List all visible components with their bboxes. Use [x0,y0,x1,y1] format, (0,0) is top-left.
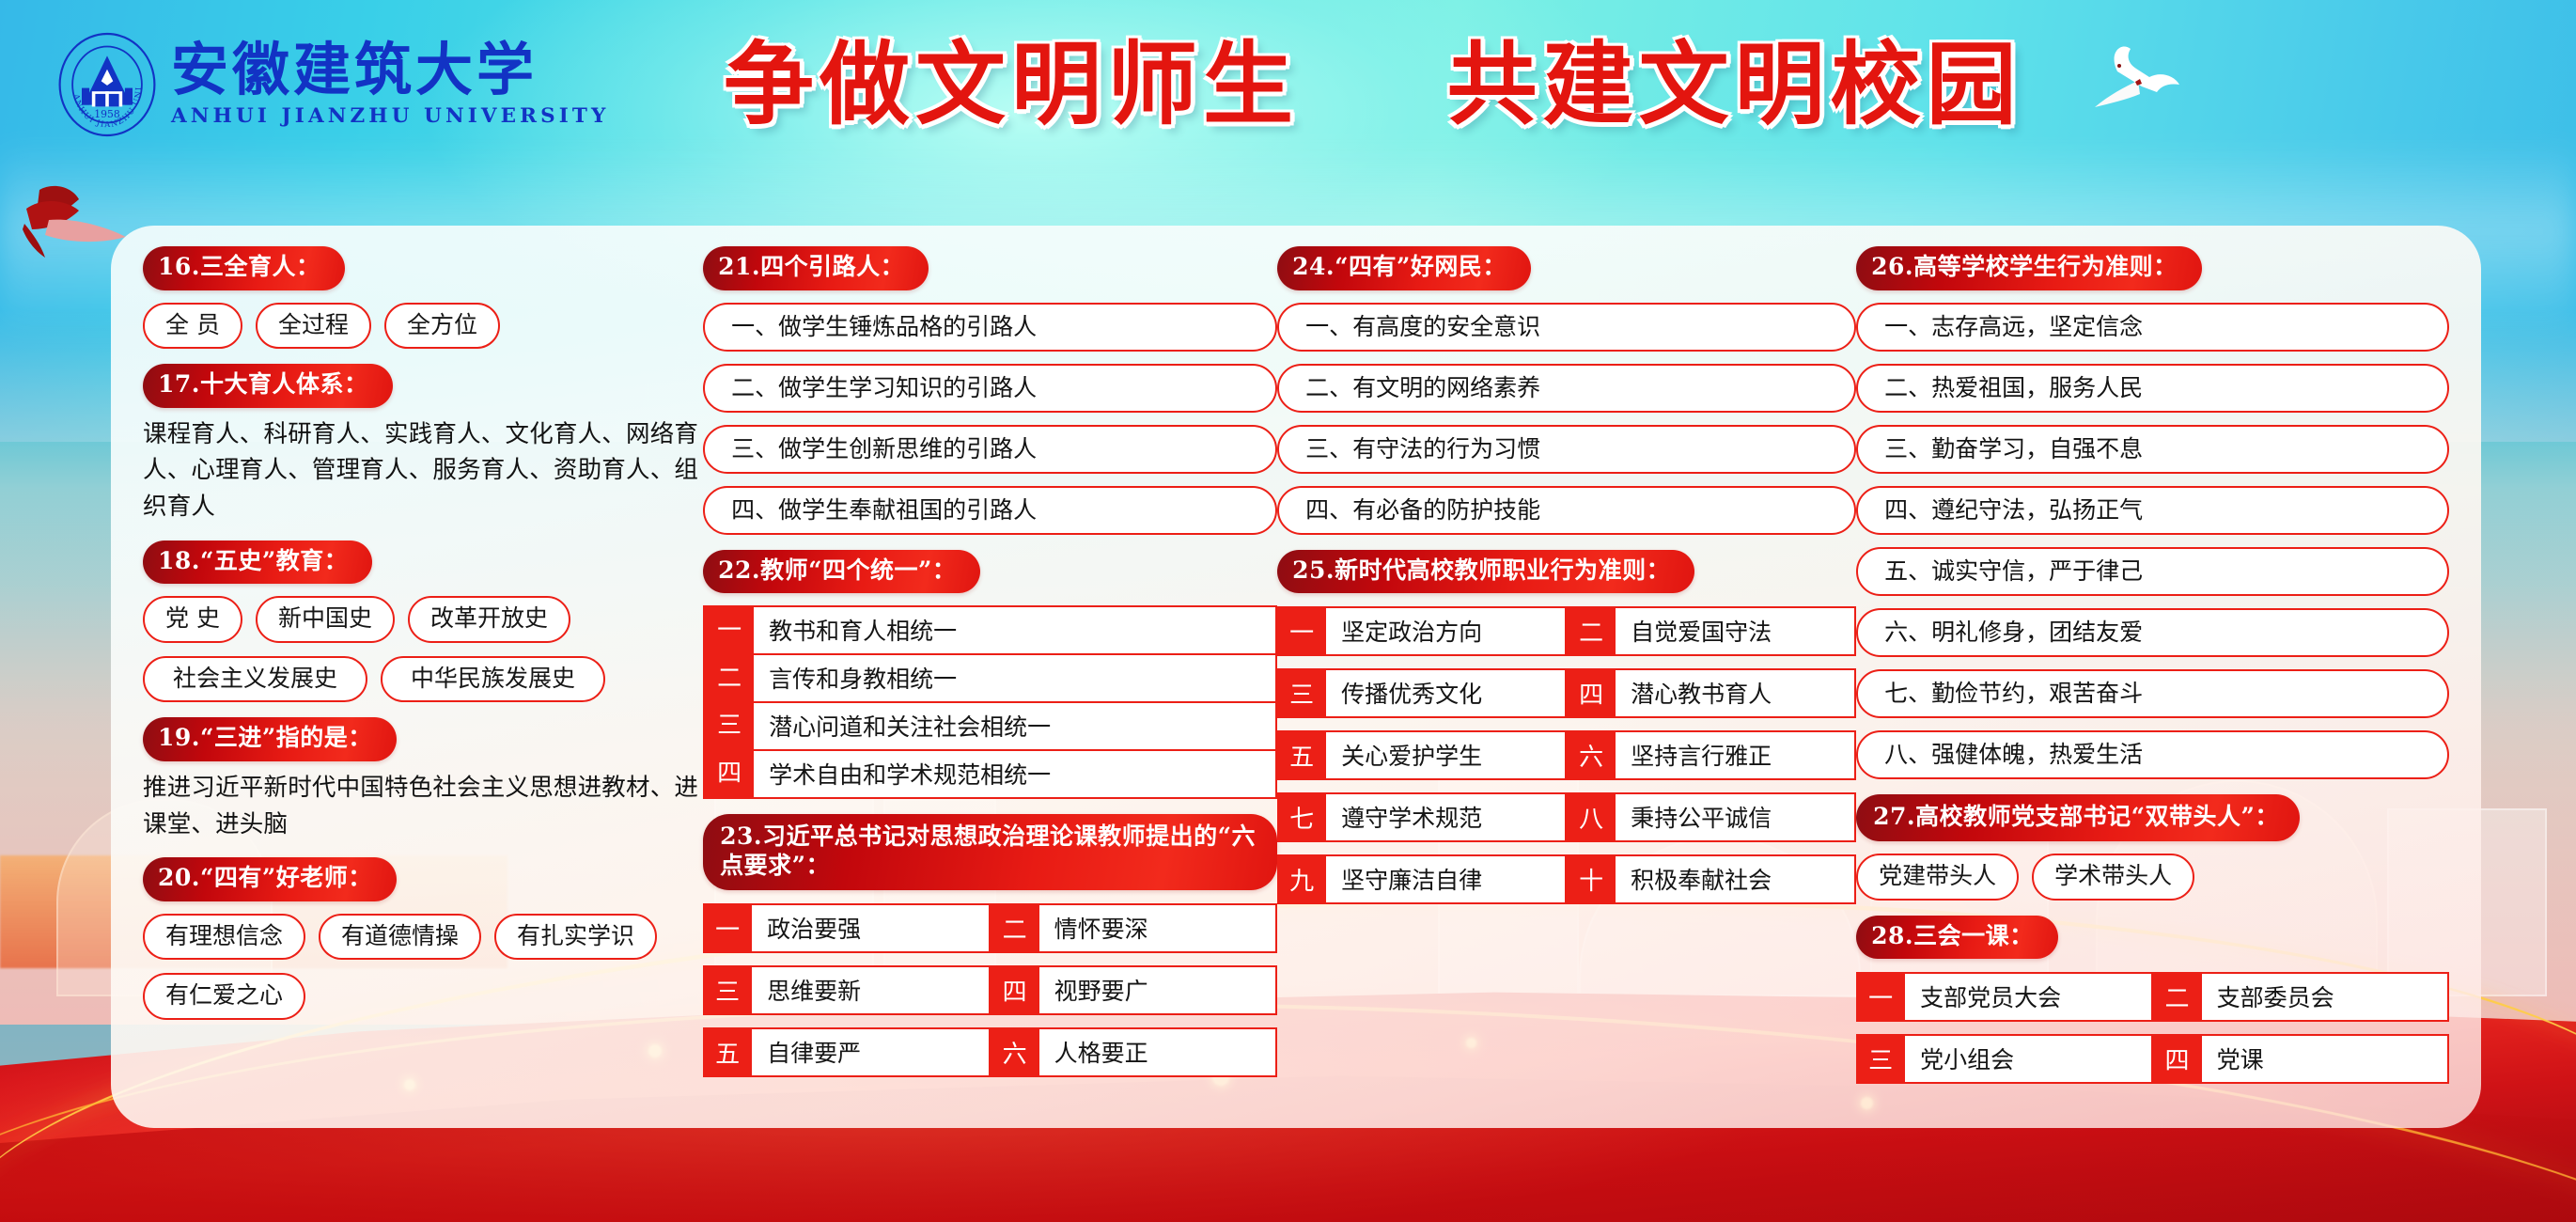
pill-item[interactable]: 全方位 [384,303,500,350]
table-cell[interactable]: 五自律要严 [703,1027,991,1077]
table-cell[interactable]: 四潜心教书育人 [1567,668,1856,718]
cell-text: 支部党员大会 [1905,972,2152,1022]
table-cell[interactable]: 一坚定政治方向 [1277,606,1567,656]
cell-text: 自律要严 [752,1027,991,1077]
pill-item[interactable]: 党 史 [143,596,242,643]
table-cell[interactable]: 六人格要正 [991,1027,1278,1077]
section-s17: 17.十大育人体系：课程育人、科研育人、实践育人、文化育人、网络育人、心理育人、… [143,364,703,525]
section-paragraph: 课程育人、科研育人、实践育人、文化育人、网络育人、心理育人、管理育人、服务育人、… [143,416,703,525]
cell-text: 政治要强 [752,903,991,953]
table-row[interactable]: 言传和身教相统一 [754,655,1275,703]
cell-text: 视野要广 [1039,965,1278,1015]
cell-text: 党小组会 [1905,1034,2152,1084]
list-item[interactable]: 一、做学生锤炼品格的引路人 [703,303,1277,352]
list-item[interactable]: 三、做学生创新思维的引路人 [703,425,1277,474]
table-cell[interactable]: 三党小组会 [1856,1034,2152,1084]
pill-item[interactable]: 新中国史 [256,596,395,643]
section-heading: 16.三全育人： [143,246,345,290]
cell-number: 四 [2153,1034,2202,1084]
table-cell[interactable]: 四视野要广 [991,965,1278,1015]
cell-text: 自觉爱国守法 [1616,606,1856,656]
section-heading: 26.高等学校学生行为准则： [1856,246,2202,290]
section-s24: 24.“四有”好网民：一、有高度的安全意识二、有文明的网络素养三、有守法的行为习… [1277,246,1856,535]
list-item[interactable]: 五、诚实守信，严于律己 [1856,547,2449,596]
pill-item[interactable]: 学术带头人 [2032,854,2194,901]
column-3: 24.“四有”好网民：一、有高度的安全意识二、有文明的网络素养三、有守法的行为习… [1277,246,1856,1119]
table-row-number: 四 [705,750,754,798]
cell-text: 支部委员会 [2202,972,2449,1022]
table-cell[interactable]: 五关心爱护学生 [1277,730,1567,780]
cell-number: 七 [1277,792,1326,842]
section-heading: 19.“三进”指的是： [143,717,397,761]
columns-container: 16.三全育人：全 员全过程全方位17.十大育人体系：课程育人、科研育人、实践育… [111,226,2481,1128]
pair-table: 一支部党员大会二支部委员会三党小组会四党课 [1856,972,2449,1084]
section-s28: 28.三会一课：一支部党员大会二支部委员会三党小组会四党课 [1856,916,2449,1085]
cell-number: 四 [1567,668,1616,718]
table-row-number: 二 [705,655,754,703]
list-item[interactable]: 七、勤俭节约，艰苦奋斗 [1856,669,2449,718]
section-heading: 21.四个引路人： [703,246,929,290]
table-row[interactable]: 潜心问道和关注社会相统一 [754,703,1275,751]
section-s22: 22.教师“四个统一”：一二三四教书和育人相统一言传和身教相统一潜心问道和关注社… [703,550,1277,800]
table-body-column: 教书和育人相统一言传和身教相统一潜心问道和关注社会相统一学术自由和学术规范相统一 [754,607,1275,797]
cell-text: 情怀要深 [1039,903,1278,953]
cell-text: 人格要正 [1039,1027,1278,1077]
cell-number: 三 [703,965,752,1015]
table-cell[interactable]: 三传播优秀文化 [1277,668,1567,718]
page-title: 争做文明师生 共建文明校园 [724,39,2022,130]
table-row: 九坚守廉洁自律十积极奉献社会 [1277,854,1856,904]
cell-number: 五 [1277,730,1326,780]
section-heading: 24.“四有”好网民： [1277,246,1531,290]
table-cell[interactable]: 三思维要新 [703,965,991,1015]
cell-number: 四 [991,965,1039,1015]
pill-row: 党 史新中国史改革开放史社会主义发展史中华民族发展史 [143,596,703,702]
table-row: 七遵守学术规范八秉持公平诚信 [1277,792,1856,842]
list-item[interactable]: 二、有文明的网络素养 [1277,364,1856,413]
university-name-cn: 安徽建筑大学 [171,41,609,99]
cell-text: 积极奉献社会 [1616,854,1856,904]
section-s19: 19.“三进”指的是：推进习近平新时代中国特色社会主义思想进教材、进课堂、进头脑 [143,717,703,842]
list-item[interactable]: 二、热爱祖国，服务人民 [1856,364,2449,413]
section-s25: 25.新时代高校教师职业行为准则：一坚定政治方向二自觉爱国守法三传播优秀文化四潜… [1277,550,1856,905]
table-cell[interactable]: 一支部党员大会 [1856,972,2152,1022]
table-row: 三思维要新四视野要广 [703,965,1277,1015]
cell-text: 秉持公平诚信 [1616,792,1856,842]
section-s18: 18.“五史”教育：党 史新中国史改革开放史社会主义发展史中华民族发展史 [143,540,703,703]
cell-number: 五 [703,1027,752,1077]
cell-number: 九 [1277,854,1326,904]
table-row: 五自律要严六人格要正 [703,1027,1277,1077]
cell-text: 思维要新 [752,965,991,1015]
list-item[interactable]: 四、做学生奉献祖国的引路人 [703,486,1277,535]
cell-text: 传播优秀文化 [1326,668,1567,718]
table-cell[interactable]: 一政治要强 [703,903,991,953]
pill-item[interactable]: 有扎实学识 [494,914,657,961]
table-cell[interactable]: 七遵守学术规范 [1277,792,1567,842]
table-row: 一政治要强二情怀要深 [703,903,1277,953]
cell-text: 关心爱护学生 [1326,730,1567,780]
list-item[interactable]: 六、明礼修身，团结友爱 [1856,608,2449,657]
cell-number: 一 [703,903,752,953]
column-4: 26.高等学校学生行为准则：一、志存高远，坚定信念二、热爱祖国，服务人民三、勤奋… [1856,246,2449,1119]
cell-number: 六 [991,1027,1039,1077]
cell-number: 三 [1277,668,1326,718]
pair-table: 一坚定政治方向二自觉爱国守法三传播优秀文化四潜心教书育人五关心爱护学生六坚持言行… [1277,606,1856,904]
section-heading: 25.新时代高校教师职业行为准则： [1277,550,1694,594]
pill-row: 有理想信念有道德情操有扎实学识有仁爱之心 [143,914,703,1020]
white-dove-icon [2082,38,2194,122]
table-index-column: 一二三四 [705,607,754,797]
section-heading: 23.习近平总书记对思想政治理论课教师提出的“六点要求”： [703,814,1277,890]
section-s16: 16.三全育人：全 员全过程全方位 [143,246,703,349]
university-name-en: ANHUI JIANZHU UNIVERSITY [171,104,609,128]
pair-table: 一政治要强二情怀要深三思维要新四视野要广五自律要严六人格要正 [703,903,1277,1077]
pill-item[interactable]: 有道德情操 [319,914,481,961]
list-item[interactable]: 一、有高度的安全意识 [1277,303,1856,352]
section-s26: 26.高等学校学生行为准则：一、志存高远，坚定信念二、热爱祖国，服务人民三、勤奋… [1856,246,2449,779]
table-row[interactable]: 学术自由和学术规范相统一 [754,751,1275,797]
table-row: 三党小组会四党课 [1856,1034,2449,1084]
section-paragraph: 推进习近平新时代中国特色社会主义思想进教材、进课堂、进头脑 [143,770,703,843]
cell-number: 一 [1856,972,1905,1022]
pill-item[interactable]: 社会主义发展史 [143,656,367,703]
section-s21: 21.四个引路人：一、做学生锤炼品格的引路人二、做学生学习知识的引路人三、做学生… [703,246,1277,535]
list-item[interactable]: 八、强健体魄，热爱生活 [1856,730,2449,779]
section-heading: 17.十大育人体系： [143,364,393,408]
section-heading: 22.教师“四个统一”： [703,550,980,594]
cell-text: 党课 [2202,1034,2449,1084]
pill-row: 党建带头人学术带头人 [1856,854,2449,901]
pill-item[interactable]: 党建带头人 [1856,854,2019,901]
table-row[interactable]: 教书和育人相统一 [754,607,1275,655]
table-row-number: 三 [705,702,754,750]
cell-number: 十 [1567,854,1616,904]
pill-item[interactable]: 改革开放史 [408,596,570,643]
section-s27: 27.高校教师党支部书记“双带头人”：党建带头人学术带头人 [1856,794,2449,901]
cell-text: 坚守廉洁自律 [1326,854,1567,904]
table-cell[interactable]: 十积极奉献社会 [1567,854,1856,904]
cell-number: 八 [1567,792,1616,842]
cell-number: 三 [1856,1034,1905,1084]
pill-item[interactable]: 全过程 [256,303,371,350]
list-item[interactable]: 三、勤奋学习，自强不息 [1856,425,2449,474]
column-2: 21.四个引路人：一、做学生锤炼品格的引路人二、做学生学习知识的引路人三、做学生… [703,246,1277,1119]
cell-number: 二 [1567,606,1616,656]
section-s23: 23.习近平总书记对思想政治理论课教师提出的“六点要求”：一政治要强二情怀要深三… [703,814,1277,1077]
cell-number: 二 [2153,972,2202,1022]
list-item[interactable]: 一、志存高远，坚定信念 [1856,303,2449,352]
cell-text: 坚定政治方向 [1326,606,1567,656]
table-cell[interactable]: 二自觉爱国守法 [1567,606,1856,656]
table-cell[interactable]: 二支部委员会 [2153,972,2449,1022]
cell-number: 六 [1567,730,1616,780]
cell-text: 坚持言行雅正 [1616,730,1856,780]
list-item[interactable]: 四、遵纪守法，弘扬正气 [1856,486,2449,535]
list-item[interactable]: 三、有守法的行为习惯 [1277,425,1856,474]
table-cell[interactable]: 九坚守廉洁自律 [1277,854,1567,904]
pill-item[interactable]: 有仁爱之心 [143,973,305,1020]
indexed-table: 一二三四教书和育人相统一言传和身教相统一潜心问道和关注社会相统一学术自由和学术规… [703,605,1277,799]
pill-item[interactable]: 全 员 [143,303,242,350]
cell-number: 一 [1277,606,1326,656]
table-row-number: 一 [705,607,754,655]
table-row: 一支部党员大会二支部委员会 [1856,972,2449,1022]
section-heading: 27.高校教师党支部书记“双带头人”： [1856,794,2300,842]
university-seal-icon: 1958 ANHUI JIANZHU UNIVERSITY [56,32,158,137]
pill-row: 全 员全过程全方位 [143,303,703,350]
table-cell[interactable]: 六坚持言行雅正 [1567,730,1856,780]
cell-text: 潜心教书育人 [1616,668,1856,718]
section-heading: 20.“四有”好老师： [143,857,397,901]
content-panel: 16.三全育人：全 员全过程全方位17.十大育人体系：课程育人、科研育人、实践育… [111,226,2481,1128]
list-item[interactable]: 二、做学生学习知识的引路人 [703,364,1277,413]
cell-number: 二 [991,903,1039,953]
table-row: 一坚定政治方向二自觉爱国守法 [1277,606,1856,656]
column-1: 16.三全育人：全 员全过程全方位17.十大育人体系：课程育人、科研育人、实践育… [143,246,703,1119]
section-heading: 18.“五史”教育： [143,540,372,585]
table-cell[interactable]: 二情怀要深 [991,903,1278,953]
university-logo: 1958 ANHUI JIANZHU UNIVERSITY 安徽建筑大学 ANH… [56,32,609,137]
pill-item[interactable]: 有理想信念 [143,914,305,961]
section-heading: 28.三会一课： [1856,916,2058,960]
table-row: 三传播优秀文化四潜心教书育人 [1277,668,1856,718]
table-cell[interactable]: 八秉持公平诚信 [1567,792,1856,842]
table-cell[interactable]: 四党课 [2153,1034,2449,1084]
list-item[interactable]: 四、有必备的防护技能 [1277,486,1856,535]
pill-item[interactable]: 中华民族发展史 [381,656,605,703]
cell-text: 遵守学术规范 [1326,792,1567,842]
section-s20: 20.“四有”好老师：有理想信念有道德情操有扎实学识有仁爱之心 [143,857,703,1020]
table-row: 五关心爱护学生六坚持言行雅正 [1277,730,1856,780]
